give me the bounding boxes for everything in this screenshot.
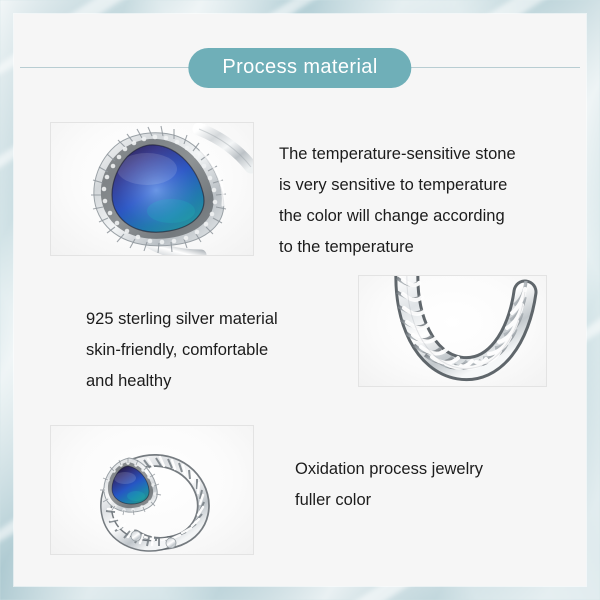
- text-line: skin-friendly, comfortable: [86, 335, 278, 366]
- twisted-band-illustration: [359, 276, 546, 386]
- text-block-silver-material: 925 sterling silver material skin-friend…: [86, 304, 278, 397]
- content-card: Process material: [14, 14, 586, 586]
- text-line: 925 sterling silver material: [86, 304, 278, 335]
- text-line: is very sensitive to temperature: [279, 170, 516, 201]
- open-ring-illustration: [51, 426, 253, 554]
- text-line: Oxidation process jewelry: [295, 454, 483, 485]
- photo-twisted-band-macro: [358, 275, 547, 387]
- text-line: fuller color: [295, 485, 483, 516]
- page-title: Process material: [188, 48, 411, 88]
- mood-stone-macro-illustration: [51, 123, 253, 255]
- photo-mood-stone-macro: [50, 122, 254, 256]
- photo-full-open-ring: [50, 425, 254, 555]
- text-line: the color will change according: [279, 201, 516, 232]
- text-line: and healthy: [86, 366, 278, 397]
- section-header: Process material: [14, 48, 586, 88]
- text-block-oxidation: Oxidation process jewelry fuller color: [295, 454, 483, 516]
- text-block-temperature: The temperature-sensitive stone is very …: [279, 139, 516, 263]
- text-line: to the temperature: [279, 232, 516, 263]
- header-rule-right: [390, 67, 580, 68]
- text-line: The temperature-sensitive stone: [279, 139, 516, 170]
- header-rule-left: [20, 67, 210, 68]
- infographic-canvas: Process material: [0, 0, 600, 600]
